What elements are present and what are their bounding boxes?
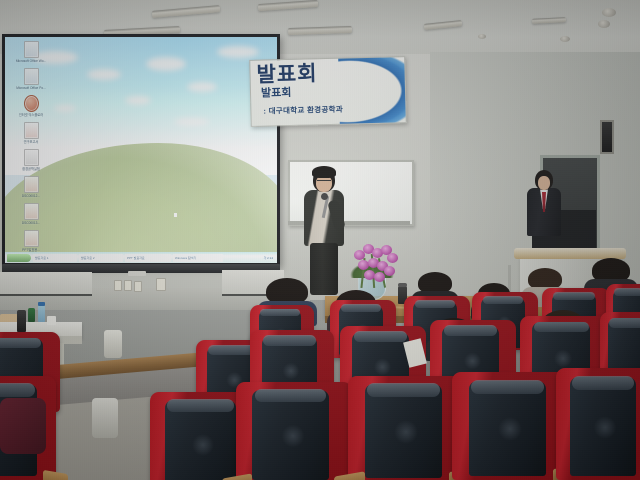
wall-panel: [0, 272, 92, 296]
start-button[interactable]: [7, 254, 31, 262]
host-face: [538, 176, 550, 190]
presenter-legs: [310, 243, 338, 295]
banner-swoosh-graphic: [338, 56, 407, 127]
power-outlet: [124, 280, 132, 291]
paper-cup: [47, 316, 56, 325]
coat-on-seat: [0, 398, 46, 454]
projected-desktop: Microsoft Office Wo... Microsoft Office …: [5, 37, 277, 263]
ceiling-speaker-icon: [602, 8, 616, 17]
desktop-icon-list: Microsoft Office Wo... Microsoft Office …: [8, 41, 54, 257]
powerpoint-icon[interactable]: PPT발표용...: [8, 230, 54, 252]
white-object: [104, 330, 122, 358]
banner-title-large: 발표회: [256, 63, 317, 86]
event-banner: 발표회 발표회 : 대구대학교 환경공학과: [249, 56, 407, 127]
ceiling-vent: [560, 36, 570, 42]
banner-subtitle: : 대구대학교 환경공학과: [263, 104, 343, 117]
cloud: [54, 105, 76, 112]
power-outlet: [114, 280, 122, 291]
text-document-icon[interactable]: 환경공학실험: [8, 149, 54, 171]
power-outlet: [156, 278, 166, 291]
dark-can: [17, 310, 26, 332]
white-bag: [92, 398, 118, 438]
system-tray-clock[interactable]: 가 2:14: [264, 256, 275, 260]
ceiling-vent: [478, 34, 486, 39]
auditorium-seat: [236, 382, 352, 480]
banner-title-small: 발표회: [261, 87, 292, 100]
microphone-head-icon: [321, 193, 328, 200]
cloud: [217, 46, 259, 58]
projection-screen: Microsoft Office Wo... Microsoft Office …: [2, 34, 280, 266]
auditorium-seat: [556, 368, 640, 480]
internet-browser-icon[interactable]: 인터넷 익스플로러: [8, 95, 54, 117]
bottle-cap: [38, 302, 45, 306]
file-document-icon[interactable]: DSC00013...: [8, 203, 54, 225]
orchid-arrangement: [348, 244, 396, 290]
auditorium-seat: [452, 372, 570, 480]
pdf-document-icon[interactable]: 연구보고서: [8, 122, 54, 144]
word-document-icon[interactable]: Microsoft Office Po...: [8, 68, 54, 90]
auditorium-seat: [348, 376, 466, 480]
water-bottle: [38, 305, 45, 322]
screen-pull-handle[interactable]: [128, 271, 146, 276]
mouse-cursor-icon: [174, 213, 177, 217]
word-document-icon[interactable]: Microsoft Office Wo...: [8, 41, 54, 63]
power-outlet: [134, 281, 142, 292]
ceiling-speaker-icon: [598, 20, 610, 28]
glasses-icon: [317, 180, 331, 184]
wall-speaker-icon: [600, 120, 614, 154]
taskbar-item[interactable]: Windows 탐색기: [173, 254, 223, 262]
taskbar-item[interactable]: PPT 발표자료: [125, 254, 171, 262]
photograph-presentation-room: Microsoft Office Wo... Microsoft Office …: [0, 0, 640, 480]
green-can: [28, 308, 35, 322]
taskbar[interactable]: 발표자료 1 발표자료 2 PPT 발표자료 Windows 탐색기 가 2:1…: [5, 252, 277, 263]
file-document-icon[interactable]: DSC00012...: [8, 176, 54, 198]
cloud: [125, 96, 151, 105]
taskbar-item[interactable]: 발표자료 2: [79, 254, 123, 262]
cloud: [87, 69, 121, 80]
thermos-cap: [398, 283, 407, 287]
presenter-hair: [312, 166, 336, 178]
taskbar-item[interactable]: 발표자료 1: [33, 254, 77, 262]
